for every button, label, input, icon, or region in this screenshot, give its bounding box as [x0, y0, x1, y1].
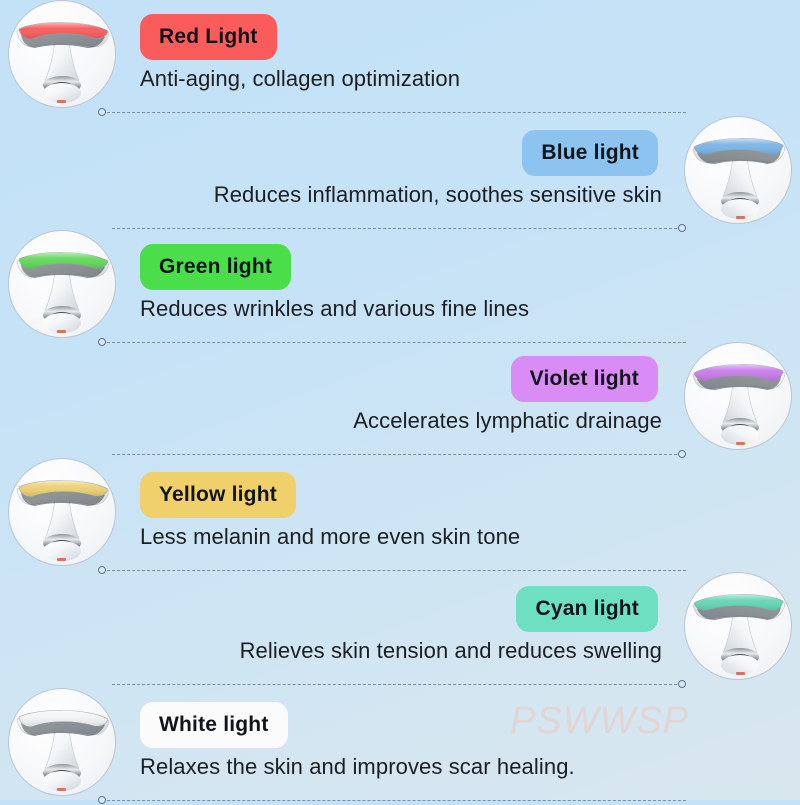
- light-mode-row-red-light: Red Light Anti-aging, collagen optimizat…: [0, 0, 800, 116]
- neck-device-icon: [9, 689, 116, 796]
- badge-white-light[interactable]: White light: [140, 702, 288, 748]
- neck-device-icon: [685, 117, 792, 224]
- connector-dot: [98, 108, 106, 116]
- connector-dot: [98, 796, 106, 804]
- light-mode-row-cyan-light: Cyan light Relieves skin tension and red…: [0, 572, 800, 688]
- neck-device-icon: [685, 343, 792, 450]
- light-mode-description: Reduces inflammation, soothes sensitive …: [214, 182, 662, 208]
- light-mode-row-violet-light: Violet light Accelerates lymphatic drain…: [0, 342, 800, 458]
- light-mode-label: White light: [159, 713, 269, 737]
- light-mode-description: Accelerates lymphatic drainage: [353, 408, 662, 434]
- light-mode-row-green-light: Green light Reduces wrinkles and various…: [0, 230, 800, 346]
- light-mode-label: Red Light: [159, 25, 258, 49]
- neck-device-icon: [9, 459, 116, 566]
- badge-blue-light[interactable]: Blue light: [522, 130, 658, 176]
- light-mode-description: Reduces wrinkles and various fine lines: [140, 296, 529, 322]
- light-mode-label: Cyan light: [535, 597, 639, 621]
- badge-cyan-light[interactable]: Cyan light: [516, 586, 658, 632]
- device-thumbnail: [8, 230, 116, 338]
- connector-dash: [107, 112, 686, 113]
- light-therapy-infographic: PSWWSP: [0, 0, 800, 800]
- light-mode-row-blue-light: Blue light Reduces inflammation, soothes…: [0, 116, 800, 232]
- device-thumbnail: [684, 342, 792, 450]
- light-mode-label: Violet light: [530, 367, 639, 391]
- connector-dot: [678, 450, 686, 458]
- light-mode-description: Less melanin and more even skin tone: [140, 524, 520, 550]
- light-mode-label: Green light: [159, 255, 272, 279]
- connector-dot: [678, 680, 686, 688]
- connector-line: [98, 796, 686, 805]
- device-thumbnail: [8, 0, 116, 108]
- connector-dash: [107, 800, 686, 801]
- device-thumbnail: [684, 116, 792, 224]
- light-mode-label: Blue light: [541, 141, 639, 165]
- device-thumbnail: [684, 572, 792, 680]
- device-thumbnail: [8, 458, 116, 566]
- neck-device-icon: [9, 231, 116, 338]
- badge-red-light[interactable]: Red Light: [140, 14, 277, 60]
- badge-violet-light[interactable]: Violet light: [511, 356, 658, 402]
- connector-dash: [107, 570, 686, 571]
- connector-dash: [112, 684, 677, 685]
- neck-device-icon: [685, 573, 792, 680]
- device-thumbnail: [8, 688, 116, 796]
- neck-device-icon: [9, 1, 116, 108]
- light-mode-row-white-light: White light Relaxes the skin and improve…: [0, 688, 800, 804]
- light-mode-description: Relaxes the skin and improves scar heali…: [140, 754, 575, 780]
- light-mode-description: Anti-aging, collagen optimization: [140, 66, 460, 92]
- light-mode-description: Relieves skin tension and reduces swelli…: [240, 638, 662, 664]
- badge-yellow-light[interactable]: Yellow light: [140, 472, 296, 518]
- light-mode-row-yellow-light: Yellow light Less melanin and more even …: [0, 458, 800, 574]
- badge-green-light[interactable]: Green light: [140, 244, 291, 290]
- light-mode-label: Yellow light: [159, 483, 277, 507]
- connector-dash: [112, 228, 677, 229]
- connector-dash: [112, 454, 677, 455]
